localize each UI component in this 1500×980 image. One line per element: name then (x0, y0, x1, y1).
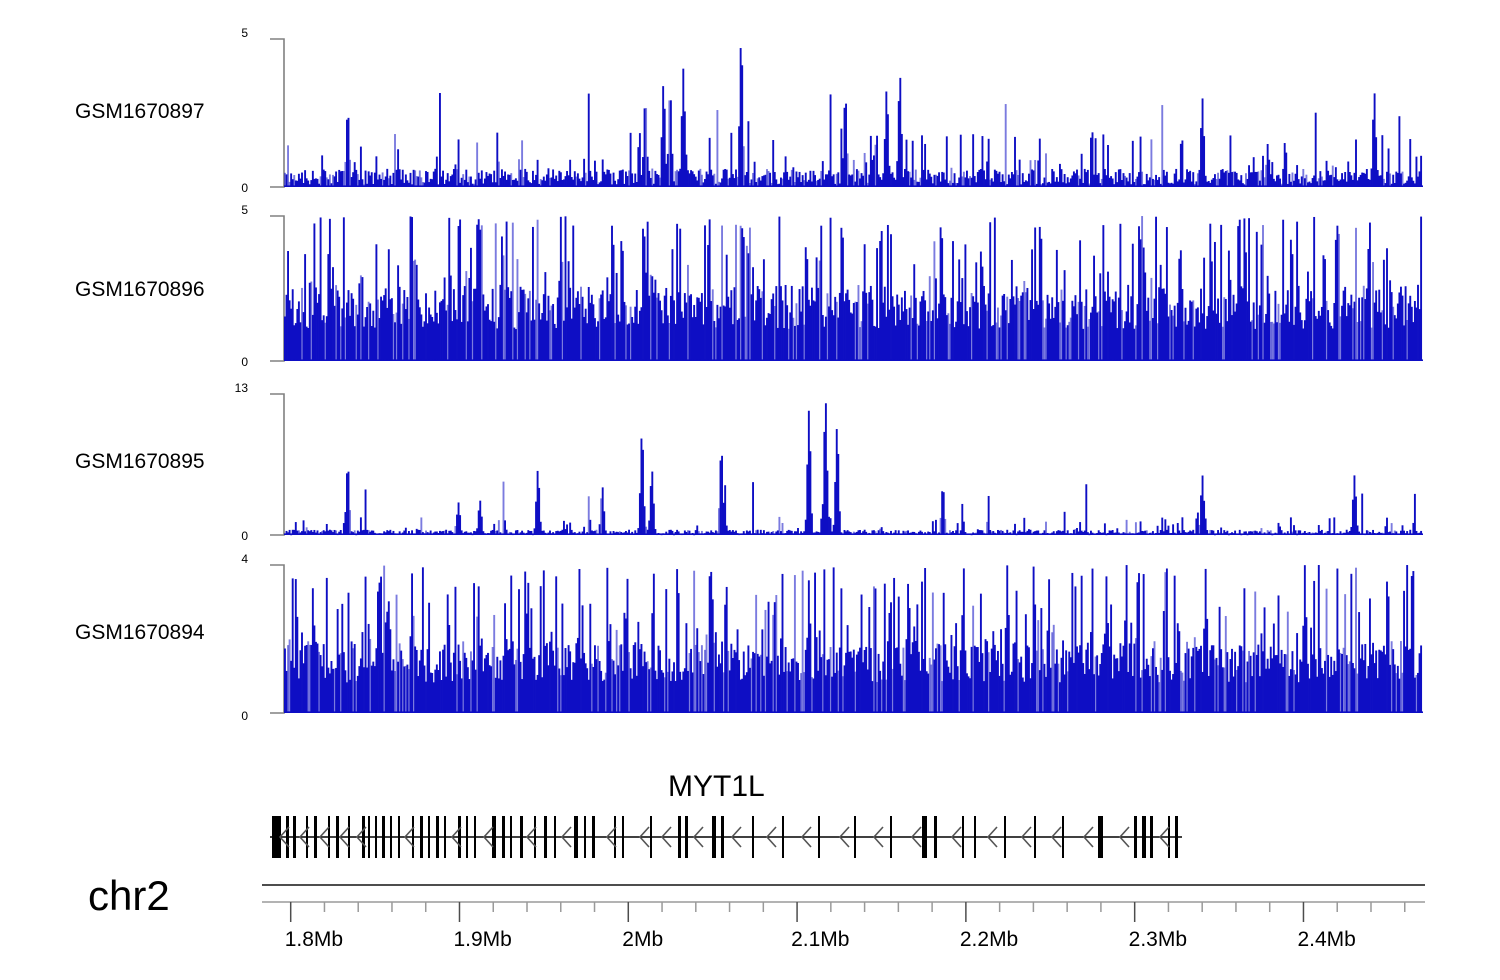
track-axis-max-2: 13 (219, 381, 248, 395)
gene-name-label: MYT1L (668, 770, 765, 804)
track-axis-min-1: 0 (226, 355, 248, 369)
ideogram-line (262, 884, 1425, 886)
track-label-gsm1670897: GSM1670897 (75, 100, 205, 124)
ruler-tick-label: 2.1Mb (791, 928, 849, 952)
ruler-tick-label: 1.8Mb (285, 928, 343, 952)
ruler-tick-label: 1.9Mb (453, 928, 511, 952)
track-label-gsm1670895: GSM1670895 (75, 450, 205, 474)
signal-track-gsm1670895[interactable] (262, 388, 1425, 541)
genomic-ruler[interactable] (250, 900, 1450, 970)
ruler-tick-label: 2.3Mb (1129, 928, 1187, 952)
ruler-tick-label: 2.4Mb (1297, 928, 1355, 952)
track-label-gsm1670896: GSM1670896 (75, 278, 205, 302)
signal-track-gsm1670897[interactable] (262, 33, 1425, 193)
track-axis-max-3: 4 (226, 552, 248, 566)
track-label-gsm1670894: GSM1670894 (75, 621, 205, 645)
signal-track-gsm1670894[interactable] (262, 559, 1425, 719)
track-axis-min-2: 0 (219, 529, 248, 543)
chromosome-label: chr2 (88, 872, 170, 920)
track-axis-max-1: 5 (226, 203, 248, 217)
track-axis-min-0: 0 (226, 181, 248, 195)
gene-annotation-track[interactable] (262, 806, 1425, 868)
ruler-tick-label: 2.2Mb (960, 928, 1018, 952)
signal-track-gsm1670896[interactable] (262, 210, 1425, 367)
track-axis-max-0: 5 (226, 26, 248, 40)
track-axis-min-3: 0 (226, 709, 248, 723)
ruler-tick-label: 2Mb (622, 928, 663, 952)
